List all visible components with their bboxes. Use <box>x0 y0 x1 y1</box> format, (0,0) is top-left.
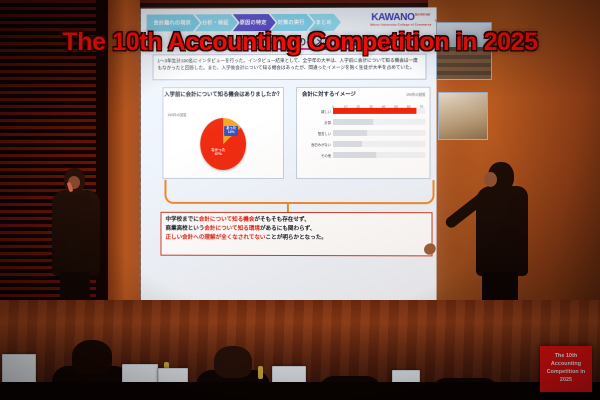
bar-fill-0 <box>333 108 416 114</box>
bar-chart-panel: 会計に対するイメージ 190件の回答 0 10 20 30 40 50 60 7… <box>296 87 431 179</box>
bar-row: 堅苦しい <box>302 128 425 138</box>
bar-label-4: その他 <box>302 152 333 157</box>
slide-desk-photo <box>438 92 488 140</box>
bar-track-1 <box>333 119 425 124</box>
presenter-left-body <box>52 190 100 276</box>
conclusion-line-2: 商業高校という会計について知る環境があるにも関わらず、 <box>165 225 427 234</box>
competition-badge-text: The 10th Accounting Competition in 2025 <box>540 353 592 385</box>
presenter-right <box>462 152 544 310</box>
bar-label-0: 難しい <box>302 108 333 113</box>
bar-row: 面白みがない <box>302 139 425 149</box>
bar-label-2: 堅苦しい <box>302 130 333 135</box>
competition-badge: The 10th Accounting Competition in 2025 <box>540 346 592 392</box>
bar-track-0 <box>333 108 425 114</box>
judges-desk <box>0 382 600 400</box>
bar-fill-2 <box>333 130 367 135</box>
bar-track-3 <box>333 141 425 146</box>
bar-chart-graphic: 0 10 20 30 40 50 60 70 難しい 計算 <box>302 105 425 173</box>
water-bottle <box>258 366 263 379</box>
bar-row: 計算 <box>302 117 425 127</box>
pie-slice-label-1: なかった 87% <box>211 148 225 156</box>
pie-circle: あった 13% なかった 87% <box>200 118 246 170</box>
pie-chart-graphic: あった 13% なかった 87% <box>200 118 246 170</box>
orange-brace <box>164 180 434 204</box>
conclusion-box: 中学校までに会計について知る機会がそもそも存在せず、 商業高校という会計について… <box>160 212 432 257</box>
bar-fill-3 <box>333 141 362 146</box>
title-overlay: The 10th Accounting Competition in 2025 <box>0 28 600 57</box>
bar-track-4 <box>333 152 425 157</box>
presenter-left <box>44 168 110 308</box>
lead-paragraph: 1〜3年生計190名にインタビューを行った。インタビュー結果として、全学年の大半… <box>158 57 422 73</box>
logo-sup-text: Seminar <box>415 11 431 16</box>
logo-main-text: KAWANO <box>371 12 414 23</box>
pie-chart-panel: 入学前に会計について知る機会はありましたか？ 190件の回答 あった 13% な… <box>162 87 284 179</box>
logo-subtitle: Nihon University College of Commerce <box>370 24 431 27</box>
pie-chart-note: 190件の回答 <box>167 112 186 117</box>
kawano-seminar-logo: KAWANOSeminar Nihon University College o… <box>370 12 431 27</box>
lead-text-box: 1〜3年生計190名にインタビューを行った。インタビュー結果として、全学年の大半… <box>153 54 427 81</box>
conclusion-line-1: 中学校までに会計について知る機会がそもそも存在せず、 <box>165 216 427 225</box>
bar-label-3: 面白みがない <box>302 141 333 146</box>
bar-row: その他 <box>302 150 425 160</box>
audience-head <box>72 340 112 374</box>
audience-head <box>214 346 252 378</box>
bar-row: 難しい <box>302 106 425 116</box>
presenter-right-face <box>484 172 497 187</box>
bar-label-1: 計算 <box>302 119 333 124</box>
bar-track-2 <box>333 130 425 135</box>
bar-fill-1 <box>333 119 373 124</box>
orange-arrow-stem <box>287 202 289 212</box>
bar-chart-note: 190件の回答 <box>406 92 425 97</box>
pie-chart-title: 入学前に会計について知る機会はありましたか？ <box>163 92 283 99</box>
pie-slice-label-0: あった 13% <box>224 126 238 136</box>
conclusion-line-3: 正しい会計への理解が全くなされてないことが明らかとなった。 <box>165 233 427 242</box>
bar-fill-4 <box>333 152 376 157</box>
presentation-photo: 会計離れの現状 分析・検証 原因の特定 対策の実行 まとめ KAWANOSemi… <box>0 0 600 400</box>
